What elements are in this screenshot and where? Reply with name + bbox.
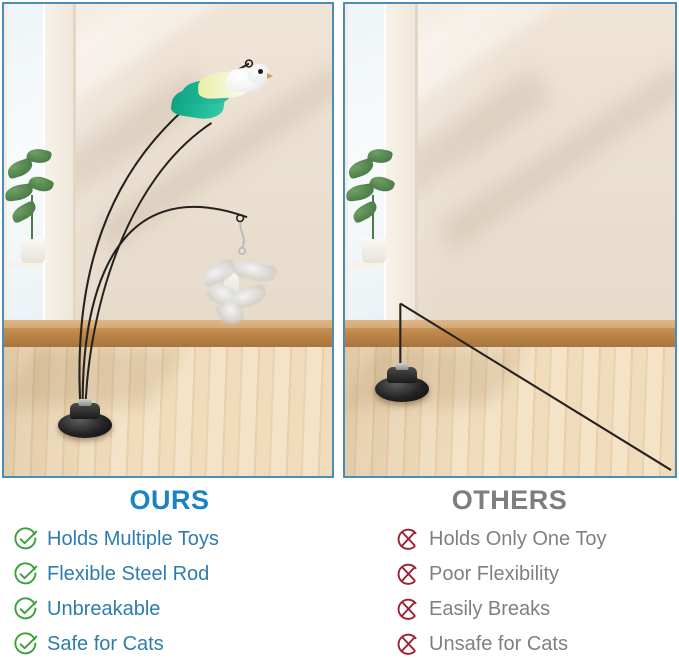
grey-feather-toy: [204, 252, 294, 324]
check-circle-icon: [14, 597, 38, 621]
feature-label: Unbreakable: [47, 597, 160, 621]
column-title-ours: OURS: [0, 485, 339, 515]
comparison-column-others: OTHERS Holds Only One Toy: [340, 480, 679, 663]
check-circle-icon: [14, 562, 38, 586]
suction-cup-base: [375, 376, 429, 402]
feature-label: Holds Multiple Toys: [47, 527, 219, 551]
x-circle-icon: [396, 632, 420, 656]
feature-label: Flexible Steel Rod: [47, 562, 209, 586]
room-scene-others: [345, 4, 675, 476]
comparison-section: OURS Holds Multiple Toys Flexible Steel …: [0, 480, 679, 663]
product-comparison-image: OURS Holds Multiple Toys Flexible Steel …: [0, 0, 679, 663]
feature-item: Holds Multiple Toys: [14, 521, 339, 556]
suction-cup-base: [58, 412, 112, 438]
feather-plume: [232, 257, 277, 285]
x-circle-icon: [396, 562, 420, 586]
base-collar: [79, 399, 92, 406]
feature-item: Flexible Steel Rod: [14, 556, 339, 591]
column-title-others: OTHERS: [340, 485, 679, 515]
feature-item: Poor Flexibility: [396, 556, 679, 591]
feature-item: Safe for Cats: [14, 626, 339, 661]
feature-label: Easily Breaks: [429, 597, 550, 621]
feature-item: Holds Only One Toy: [396, 521, 679, 556]
check-circle-icon: [14, 632, 38, 656]
room-scene-ours: [4, 4, 332, 476]
feature-label: Poor Flexibility: [429, 562, 559, 586]
check-circle-icon: [14, 527, 38, 551]
toy-hook: [4, 4, 332, 476]
feature-list-others: Holds Only One Toy Poor Flexibility: [340, 521, 679, 661]
photo-panel-others: [343, 2, 677, 478]
comparison-column-ours: OURS Holds Multiple Toys Flexible Steel …: [0, 480, 339, 663]
feature-item: Unsafe for Cats: [396, 626, 679, 661]
base-collar: [396, 363, 409, 370]
feature-label: Unsafe for Cats: [429, 632, 568, 656]
collapsed-rod: [345, 4, 675, 476]
feature-label: Holds Only One Toy: [429, 527, 607, 551]
photo-panels: [0, 0, 679, 480]
feature-list-ours: Holds Multiple Toys Flexible Steel Rod U…: [0, 521, 339, 661]
photo-panel-ours: [2, 2, 334, 478]
feature-label: Safe for Cats: [47, 632, 164, 656]
feature-item: Easily Breaks: [396, 591, 679, 626]
feature-item: Unbreakable: [14, 591, 339, 626]
x-circle-icon: [396, 527, 420, 551]
x-circle-icon: [396, 597, 420, 621]
